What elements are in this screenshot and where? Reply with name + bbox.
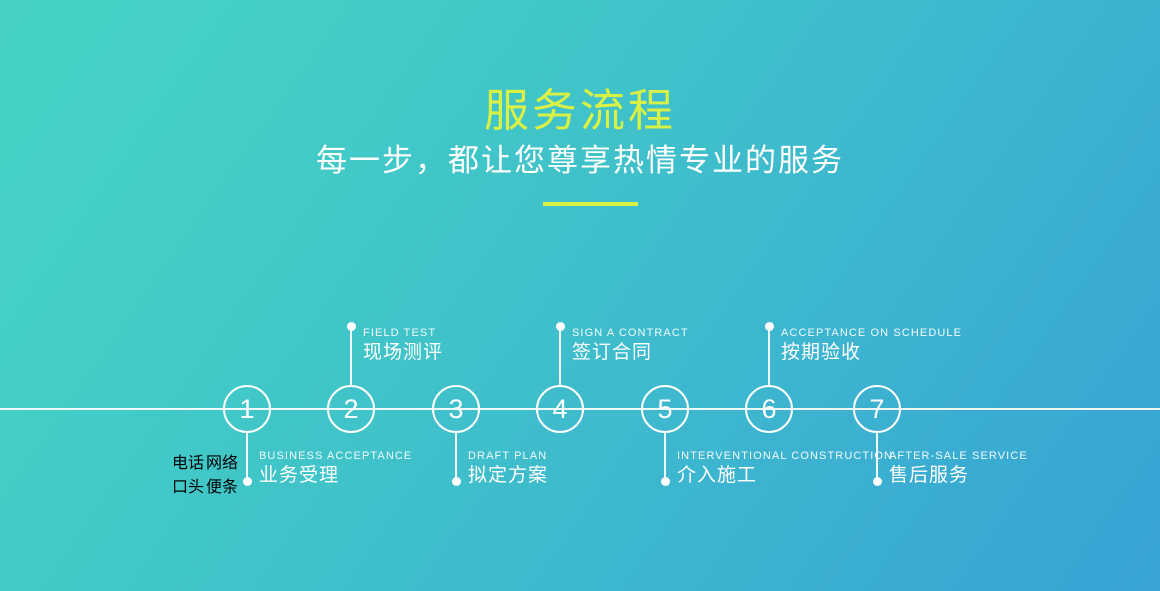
timeline-label-3: DRAFT PLAN拟定方案: [468, 449, 548, 488]
timeline-note-item: 网络: [206, 449, 238, 473]
timeline-note-row: 口头便条: [172, 473, 242, 497]
timeline-label-en-3: DRAFT PLAN: [468, 449, 548, 463]
page-title: 服务流程: [0, 86, 1160, 136]
timeline-dot-1: [243, 477, 252, 486]
timeline-label-cn-1: 业务受理: [259, 463, 412, 488]
timeline-stem-6: [768, 327, 770, 385]
timeline-note-row: 电话网络: [172, 449, 242, 473]
timeline-label-5: INTERVENTIONAL CONSTRUCTION介入施工: [677, 449, 893, 488]
timeline-node-7[interactable]: 7: [853, 385, 901, 433]
timeline-node-5[interactable]: 5: [641, 385, 689, 433]
timeline-node-6[interactable]: 6: [745, 385, 793, 433]
timeline-dot-4: [556, 322, 565, 331]
timeline-label-4: SIGN A CONTRACT签订合同: [572, 326, 689, 365]
timeline-node-4[interactable]: 4: [536, 385, 584, 433]
timeline-node-3[interactable]: 3: [432, 385, 480, 433]
timeline-label-6: ACCEPTANCE ON SCHEDULE按期验收: [781, 326, 962, 365]
timeline-label-cn-7: 售后服务: [889, 463, 1028, 488]
page-subtitle: 每一步，都让您尊享热情专业的服务: [0, 141, 1160, 181]
timeline-label-1: BUSINESS ACCEPTANCE业务受理: [259, 449, 412, 488]
timeline-notes-1: 电话网络口头便条: [172, 449, 242, 493]
timeline-stem-3: [455, 433, 457, 481]
title-underline-rule: [543, 202, 638, 206]
timeline-label-cn-2: 现场测评: [363, 340, 443, 365]
timeline-label-en-6: ACCEPTANCE ON SCHEDULE: [781, 326, 962, 340]
timeline-note-item: 便条: [206, 473, 238, 497]
timeline-dot-7: [873, 477, 882, 486]
timeline-dot-3: [452, 477, 461, 486]
timeline-node-2[interactable]: 2: [327, 385, 375, 433]
timeline-dot-6: [765, 322, 774, 331]
timeline-stem-2: [350, 327, 352, 385]
timeline-stem-1: [246, 433, 248, 481]
timeline-note-item: 电话: [172, 449, 206, 473]
timeline-note-item: 口头: [172, 473, 206, 497]
timeline-label-cn-3: 拟定方案: [468, 463, 548, 488]
timeline-label-en-1: BUSINESS ACCEPTANCE: [259, 449, 412, 463]
slide-canvas: 服务流程 每一步，都让您尊享热情专业的服务 1BUSINESS ACCEPTAN…: [0, 0, 1160, 591]
timeline-stem-7: [876, 433, 878, 481]
timeline-dot-2: [347, 322, 356, 331]
timeline-label-en-2: FIELD TEST: [363, 326, 443, 340]
timeline-label-cn-6: 按期验收: [781, 340, 962, 365]
timeline-stem-5: [664, 433, 666, 481]
timeline-label-en-4: SIGN A CONTRACT: [572, 326, 689, 340]
timeline-label-2: FIELD TEST现场测评: [363, 326, 443, 365]
timeline-label-en-7: AFTER-SALE SERVICE: [889, 449, 1028, 463]
timeline-label-7: AFTER-SALE SERVICE售后服务: [889, 449, 1028, 488]
timeline-dot-5: [661, 477, 670, 486]
timeline-node-1[interactable]: 1: [223, 385, 271, 433]
timeline-label-cn-5: 介入施工: [677, 463, 893, 488]
timeline-label-en-5: INTERVENTIONAL CONSTRUCTION: [677, 449, 893, 463]
timeline-label-cn-4: 签订合同: [572, 340, 689, 365]
timeline-stem-4: [559, 327, 561, 385]
